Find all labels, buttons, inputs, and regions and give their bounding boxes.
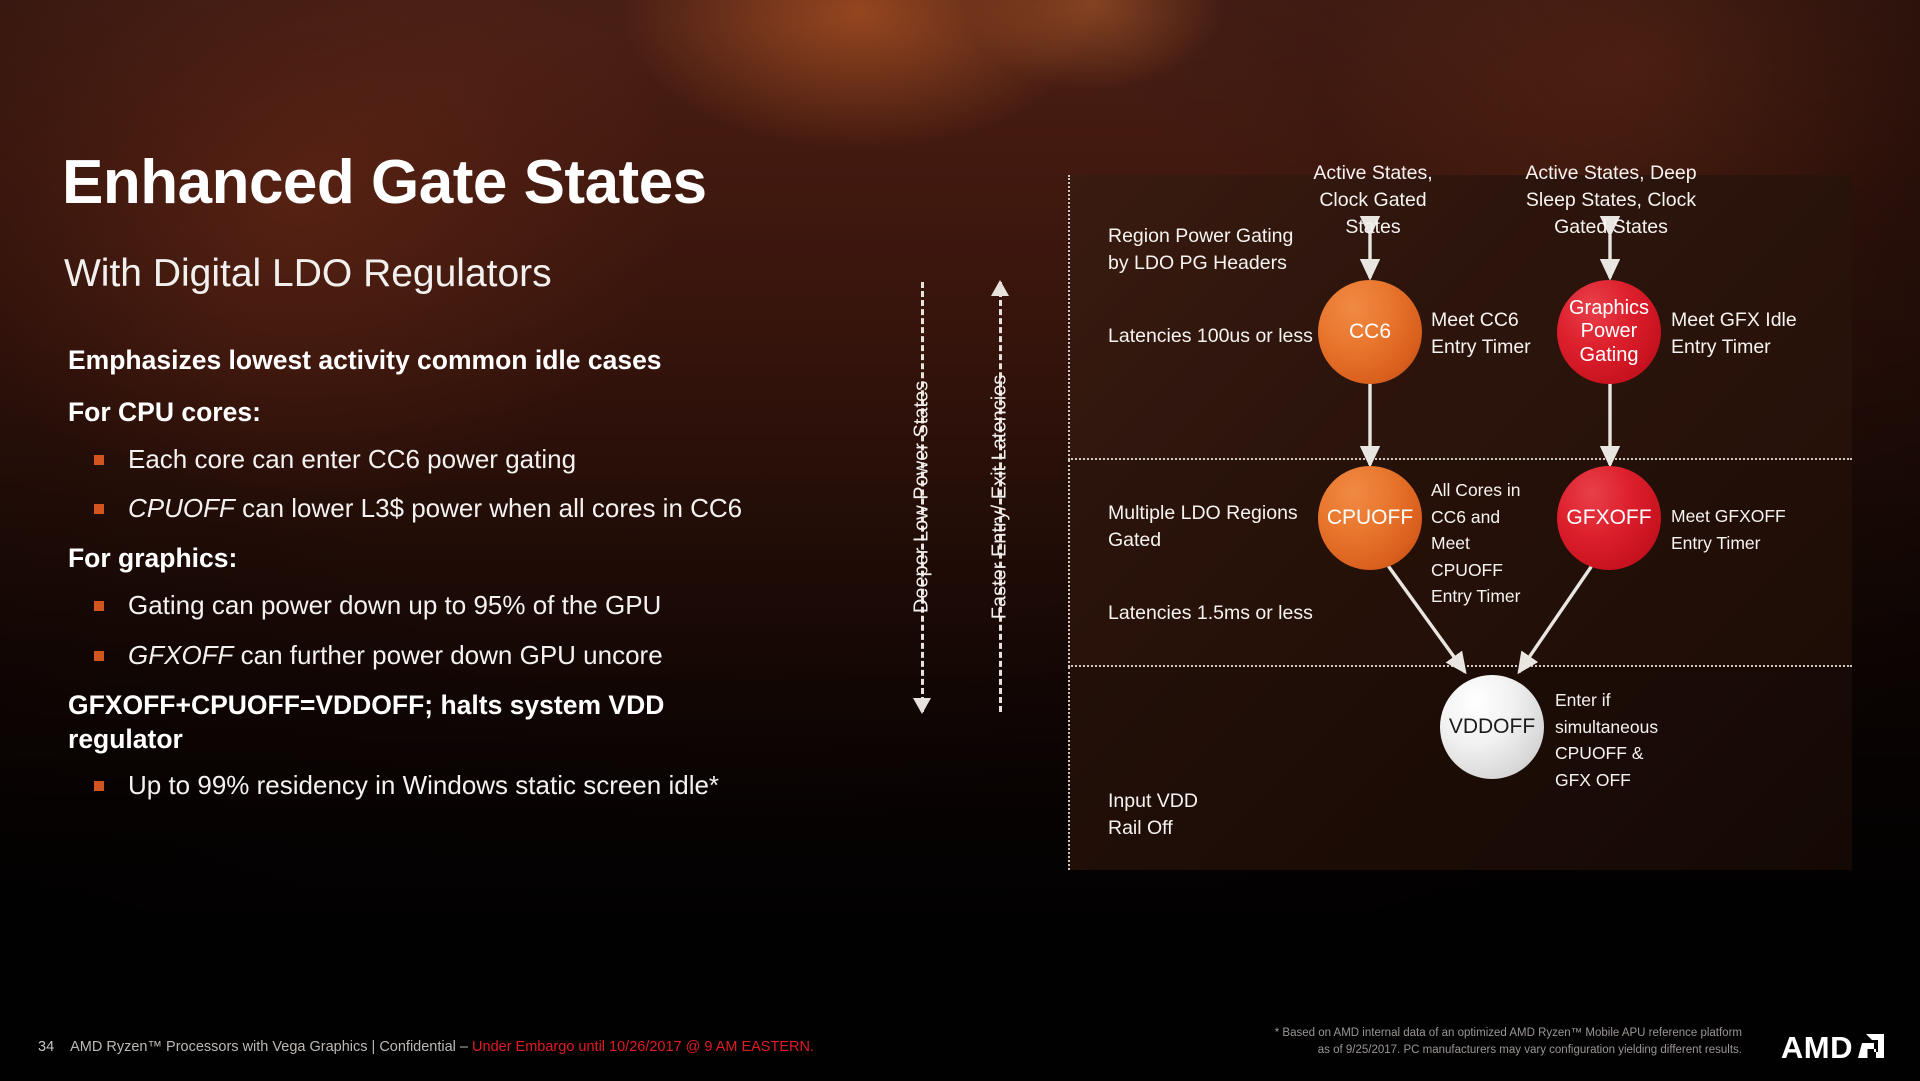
power-state-diagram: Region Power Gating by LDO PG Headers La… [1068,175,1852,870]
bullet-emphasis: GFXOFF [128,640,233,670]
label-input-vdd-rail-off: Input VDD Rail Off [1108,788,1328,842]
slide-canvas: Enhanced Gate States With Digital LDO Re… [0,0,1920,1081]
annotation-all-cores-in-cc6: All Cores in CC6 and Meet CPUOFF Entry T… [1431,477,1551,610]
amd-logo-text: AMD [1781,1032,1853,1063]
graphics-bullet-list: Gating can power down up to 95% of the G… [68,589,898,672]
bullet-square-icon [94,601,104,611]
bullet-text: Up to 99% residency in Windows static sc… [128,770,719,800]
node-cpuoff[interactable]: CPUOFF [1318,466,1422,570]
node-vddoff[interactable]: VDDOFF [1440,675,1544,779]
list-item: Gating can power down up to 95% of the G… [90,589,898,622]
vddoff-statement: GFXOFF+CPUOFF=VDDOFF; halts system VDD r… [68,689,768,757]
bullet-emphasis: CPUOFF [128,493,235,523]
axis-faster-entry-exit-latencies: Faster Entry/ Exit Latencies [983,282,1017,712]
node-cc6[interactable]: CC6 [1318,280,1422,384]
amd-logo: AMD [1781,1030,1886,1064]
annotation-meet-gfxoff-entry-timer: Meet GFXOFF Entry Timer [1671,503,1821,556]
bullet-square-icon [94,651,104,661]
list-item: Up to 99% residency in Windows static sc… [90,769,898,802]
caption-active-deep-sleep-clock-gated-states: Active States, Deep Sleep States, Clock … [1506,160,1716,241]
footer-band [0,940,1920,1081]
bullet-text: can further power down GPU uncore [233,640,662,670]
node-gfxoff[interactable]: GFXOFF [1557,466,1661,570]
annotation-meet-cc6-entry-timer: Meet CC6 Entry Timer [1431,307,1571,361]
footnote: * Based on AMD internal data of an optim… [1272,1025,1742,1058]
page-number: 34 [38,1039,54,1055]
cpu-bullet-list: Each core can enter CC6 power gating CPU… [68,443,898,526]
cpu-section-heading: For CPU cores: [68,397,898,429]
slide-title: Enhanced Gate States [62,152,707,214]
caption-active-clock-gated-states: Active States, Clock Gated States [1283,160,1463,241]
bullet-square-icon [94,455,104,465]
list-item: CPUOFF can lower L3$ power when all core… [90,492,898,525]
vddoff-bullet-list: Up to 99% residency in Windows static sc… [68,769,898,802]
embargo-notice: Under Embargo until 10/26/2017 @ 9 AM EA… [472,1039,814,1055]
graphics-section-heading: For graphics: [68,543,898,575]
bullet-text: Each core can enter CC6 power gating [128,444,576,474]
slide-subtitle: With Digital LDO Regulators [64,252,552,296]
annotation-meet-gfx-idle-entry-timer: Meet GFX Idle Entry Timer [1671,307,1831,361]
bullet-square-icon [94,781,104,791]
list-item: Each core can enter CC6 power gating [90,443,898,476]
list-item: GFXOFF can further power down GPU uncore [90,639,898,672]
amd-arrow-icon [1856,1032,1886,1065]
body-content: Emphasizes lowest activity common idle c… [68,345,898,820]
label-multiple-ldo-regions-gated: Multiple LDO Regions Gated [1108,500,1348,554]
axis-label: Faster Entry/ Exit Latencies [989,369,1012,626]
footer-info: 34AMD Ryzen™ Processors with Vega Graphi… [38,1039,814,1055]
label-latencies-1-5ms: Latencies 1.5ms or less [1108,600,1378,627]
bullet-text: Gating can power down up to 95% of the G… [128,590,661,620]
node-graphics-power-gating[interactable]: Graphics Power Gating [1557,280,1661,384]
bullet-text: can lower L3$ power when all cores in CC… [235,493,742,523]
footer-text: AMD Ryzen™ Processors with Vega Graphics… [70,1039,472,1055]
lead-statement: Emphasizes lowest activity common idle c… [68,345,898,377]
bullet-square-icon [94,504,104,514]
annotation-enter-if-simultaneous: Enter if simultaneous CPUOFF & GFX OFF [1555,687,1685,793]
